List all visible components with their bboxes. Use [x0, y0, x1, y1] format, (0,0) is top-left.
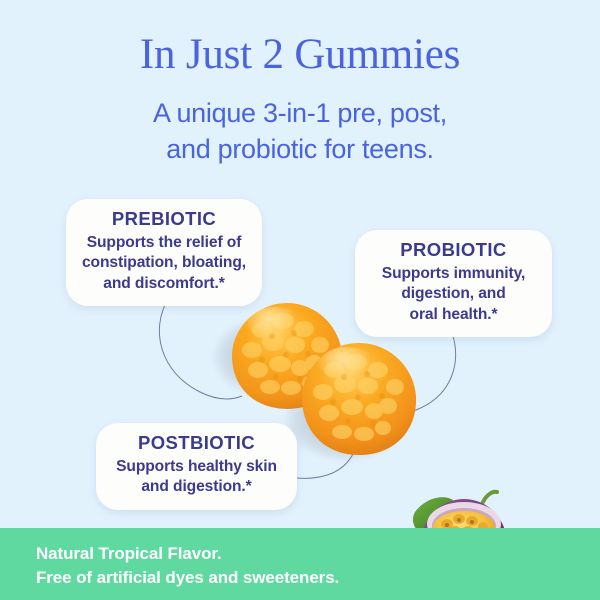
product-infographic: In Just 2 Gummies A unique 3-in-1 pre, p… — [0, 0, 600, 600]
banner-text: Natural Tropical Flavor. Free of artific… — [36, 542, 339, 590]
fruit-artwork — [0, 0, 600, 600]
stem-icon — [483, 492, 497, 502]
bottom-banner: Natural Tropical Flavor. Free of artific… — [0, 528, 600, 600]
banner-line-2: Free of artificial dyes and sweeteners. — [36, 566, 339, 590]
banner-line-1: Natural Tropical Flavor. — [36, 542, 339, 566]
